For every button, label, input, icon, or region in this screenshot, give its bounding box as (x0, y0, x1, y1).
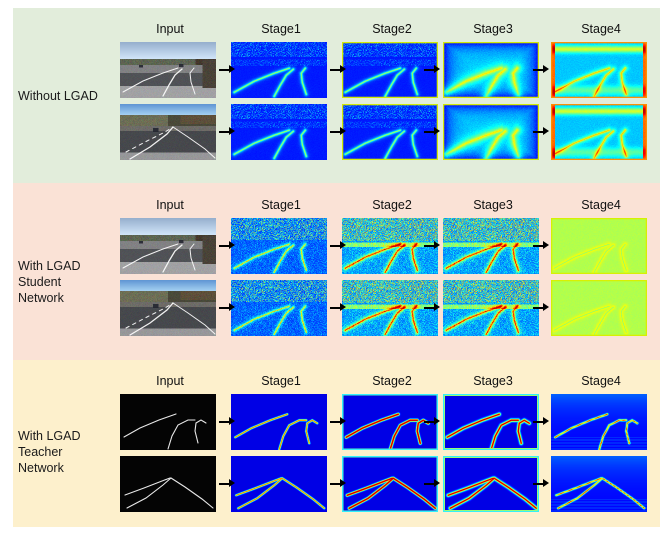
column-header-stage2-student: Stage2 (342, 198, 442, 212)
arrow-teacher-r1-2 (330, 417, 346, 426)
arrow-student-r1-2 (330, 241, 346, 250)
arrow-teacher-r1-3 (424, 417, 440, 426)
arrow-without-r1-3 (424, 65, 440, 74)
cell-teacher-r2-stage1 (231, 456, 327, 512)
column-header-input-without: Input (120, 22, 220, 36)
arrow-student-r2-2 (330, 303, 346, 312)
column-header-stage1-without: Stage1 (231, 22, 331, 36)
cell-teacher-r1-stage3 (443, 394, 539, 450)
cell-teacher-r2-stage3 (443, 456, 539, 512)
cell-without-r1-input (120, 42, 216, 98)
arrow-teacher-r1-4 (533, 417, 549, 426)
cell-student-r1-input (120, 218, 216, 274)
cell-student-r2-stage3 (443, 280, 539, 336)
cell-teacher-r1-input (120, 394, 216, 450)
cell-student-r1-stage4 (551, 218, 647, 274)
arrow-teacher-r2-4 (533, 479, 549, 488)
column-header-stage3-teacher: Stage3 (443, 374, 543, 388)
cell-student-r2-input (120, 280, 216, 336)
panel-label-without-lgad: Without LGAD (18, 88, 118, 104)
arrow-student-r2-4 (533, 303, 549, 312)
column-header-input-student: Input (120, 198, 220, 212)
column-header-stage3-student: Stage3 (443, 198, 543, 212)
arrow-teacher-r2-3 (424, 479, 440, 488)
arrow-without-r1-4 (533, 65, 549, 74)
cell-student-r1-stage3 (443, 218, 539, 274)
arrow-teacher-r2-1 (219, 479, 235, 488)
arrow-without-r2-1 (219, 127, 235, 136)
arrow-student-r2-1 (219, 303, 235, 312)
column-header-stage1-student: Stage1 (231, 198, 331, 212)
column-header-stage2-teacher: Stage2 (342, 374, 442, 388)
arrow-student-r1-4 (533, 241, 549, 250)
cell-without-r1-stage3 (443, 42, 539, 98)
column-header-stage4-student: Stage4 (551, 198, 651, 212)
cell-without-r2-stage4 (551, 104, 647, 160)
column-header-stage4-teacher: Stage4 (551, 374, 651, 388)
cell-student-r1-stage1 (231, 218, 327, 274)
arrow-without-r1-1 (219, 65, 235, 74)
cell-teacher-r1-stage1 (231, 394, 327, 450)
cell-teacher-r2-stage4 (551, 456, 647, 512)
cell-teacher-r1-stage4 (551, 394, 647, 450)
column-header-input-teacher: Input (120, 374, 220, 388)
column-header-stage2-without: Stage2 (342, 22, 442, 36)
column-header-stage3-without: Stage3 (443, 22, 543, 36)
cell-without-r1-stage4 (551, 42, 647, 98)
arrow-without-r2-4 (533, 127, 549, 136)
panel-label-with-lgad-student: With LGAD Student Network (18, 258, 118, 306)
arrow-student-r1-3 (424, 241, 440, 250)
cell-without-r1-stage1 (231, 42, 327, 98)
arrow-student-r1-1 (219, 241, 235, 250)
column-header-stage4-without: Stage4 (551, 22, 651, 36)
cell-student-r2-stage4 (551, 280, 647, 336)
arrow-without-r2-2 (330, 127, 346, 136)
arrow-teacher-r1-1 (219, 417, 235, 426)
cell-without-r2-stage3 (443, 104, 539, 160)
figure-root: Without LGAD Input Stage1 Stage2 Stage3 … (0, 0, 671, 535)
cell-student-r2-stage1 (231, 280, 327, 336)
arrow-without-r1-2 (330, 65, 346, 74)
cell-without-r2-stage1 (231, 104, 327, 160)
panel-label-with-lgad-teacher: With LGAD Teacher Network (18, 428, 118, 476)
cell-teacher-r2-input (120, 456, 216, 512)
column-header-stage1-teacher: Stage1 (231, 374, 331, 388)
cell-without-r2-input (120, 104, 216, 160)
arrow-teacher-r2-2 (330, 479, 346, 488)
arrow-student-r2-3 (424, 303, 440, 312)
arrow-without-r2-3 (424, 127, 440, 136)
